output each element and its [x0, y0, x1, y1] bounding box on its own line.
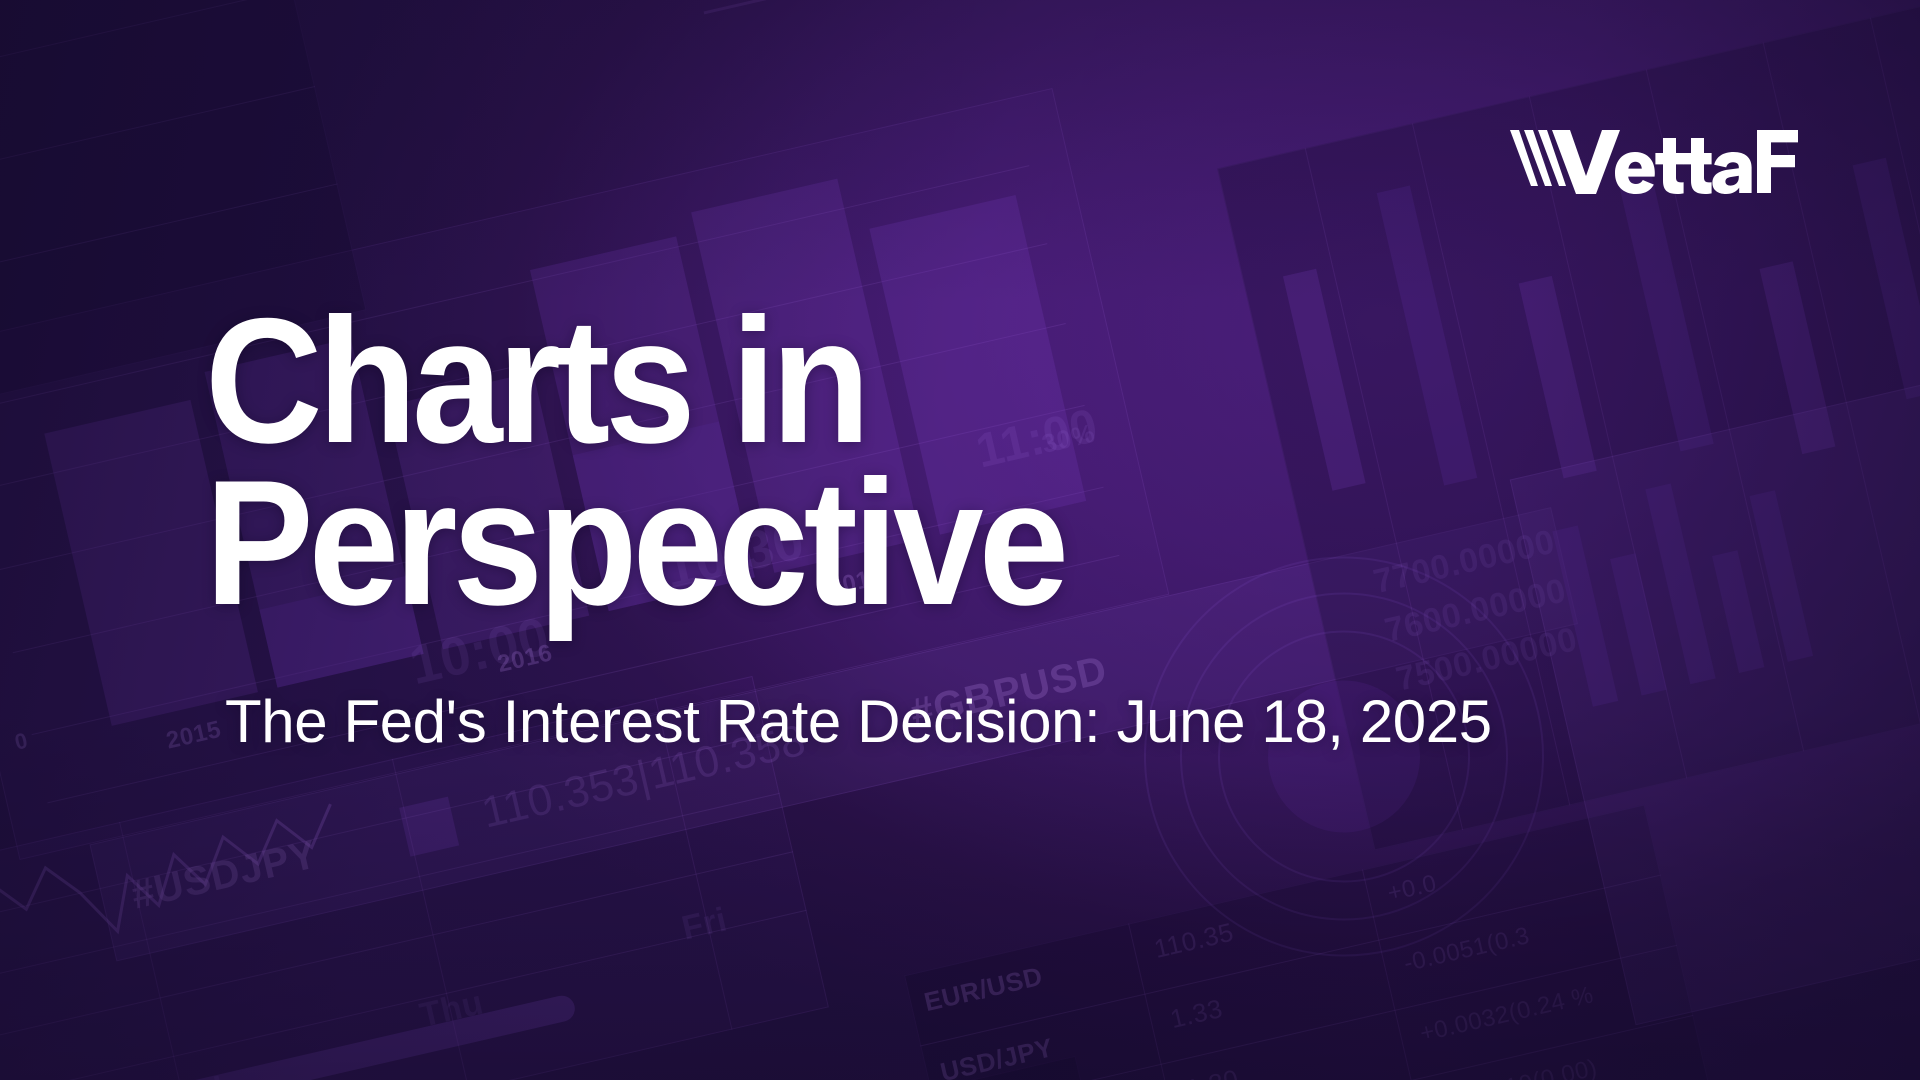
hero-title-line-2: Perspective	[205, 462, 1064, 624]
hero-title: Charts in Perspective	[205, 300, 1144, 624]
hero-subtitle: The Fed's Interest Rate Decision: June 1…	[225, 688, 1492, 756]
hero-title-line-1: Charts in	[205, 300, 1064, 462]
slide-foreground: Charts in Perspective The Fed's Interest…	[0, 0, 1920, 1080]
slide-canvas: 320 160 80 0 2015 2016 2017 30% #USDJPY …	[0, 0, 1920, 1080]
vettafi-logo-mark	[1508, 124, 1798, 200]
vettafi-logo[interactable]	[1508, 124, 1798, 200]
